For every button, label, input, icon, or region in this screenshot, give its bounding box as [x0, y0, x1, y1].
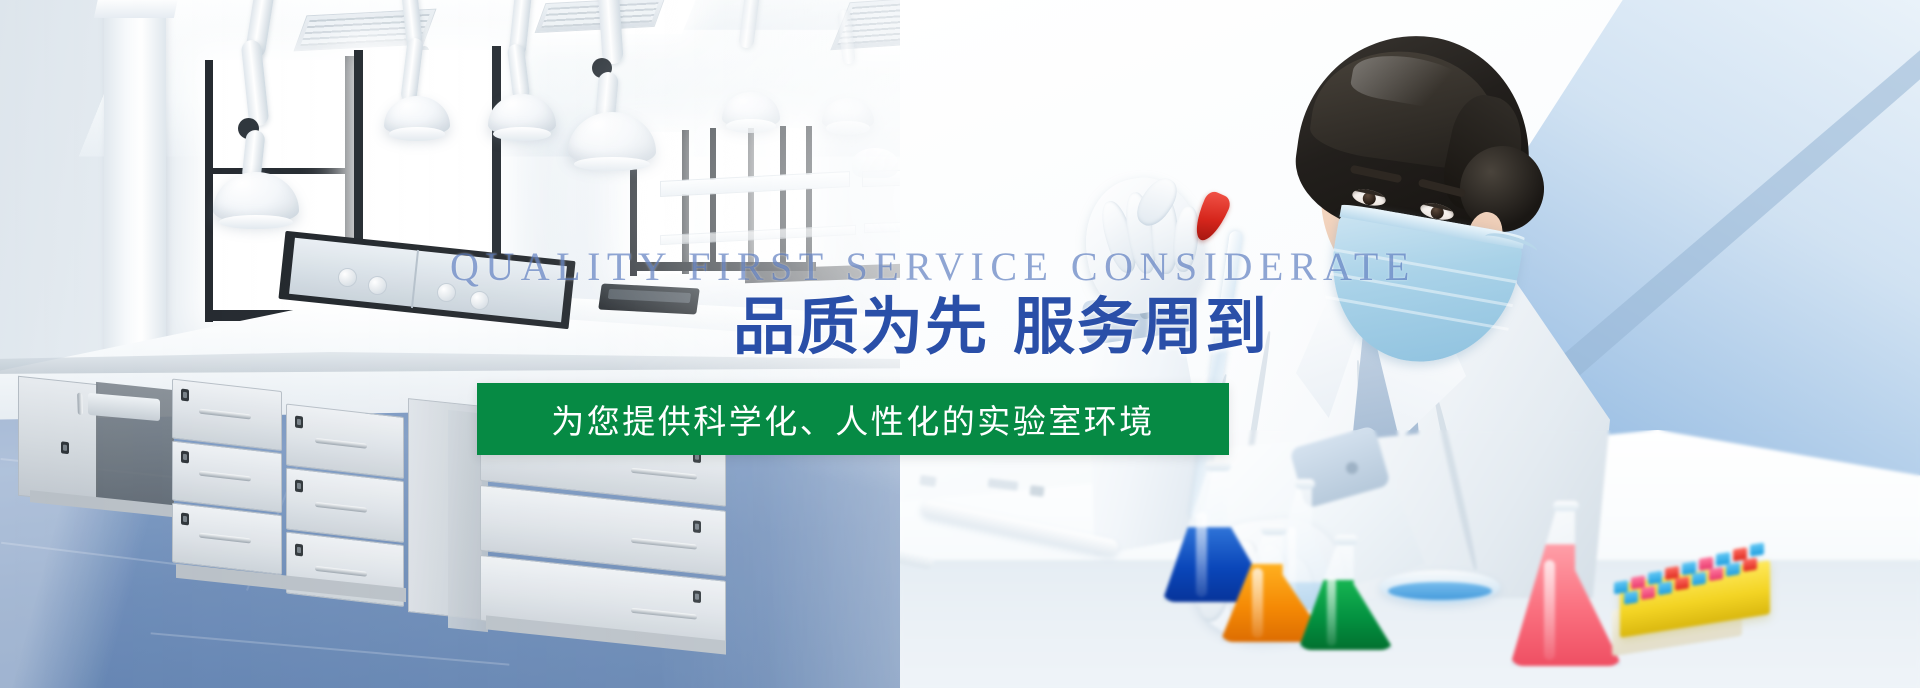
subtitle-bar-text: 为您提供科学化、人性化的实验室环境 — [551, 395, 1155, 443]
english-tagline: QUALITY FIRST SERVICE CONSIDERATE — [450, 243, 1416, 290]
headline-part-1: 品质为先 — [733, 290, 989, 363]
subtitle-bar: 为您提供科学化、人性化的实验室环境 — [477, 383, 1229, 455]
headline-part-2: 服务周到 — [1013, 290, 1269, 363]
lab-hero-banner: QUALITY FIRST SERVICE CONSIDERATE 品质为先服务… — [0, 0, 1920, 688]
headline: 品质为先服务周到 — [733, 296, 1269, 358]
text-overlay: QUALITY FIRST SERVICE CONSIDERATE 品质为先服务… — [0, 0, 1920, 688]
